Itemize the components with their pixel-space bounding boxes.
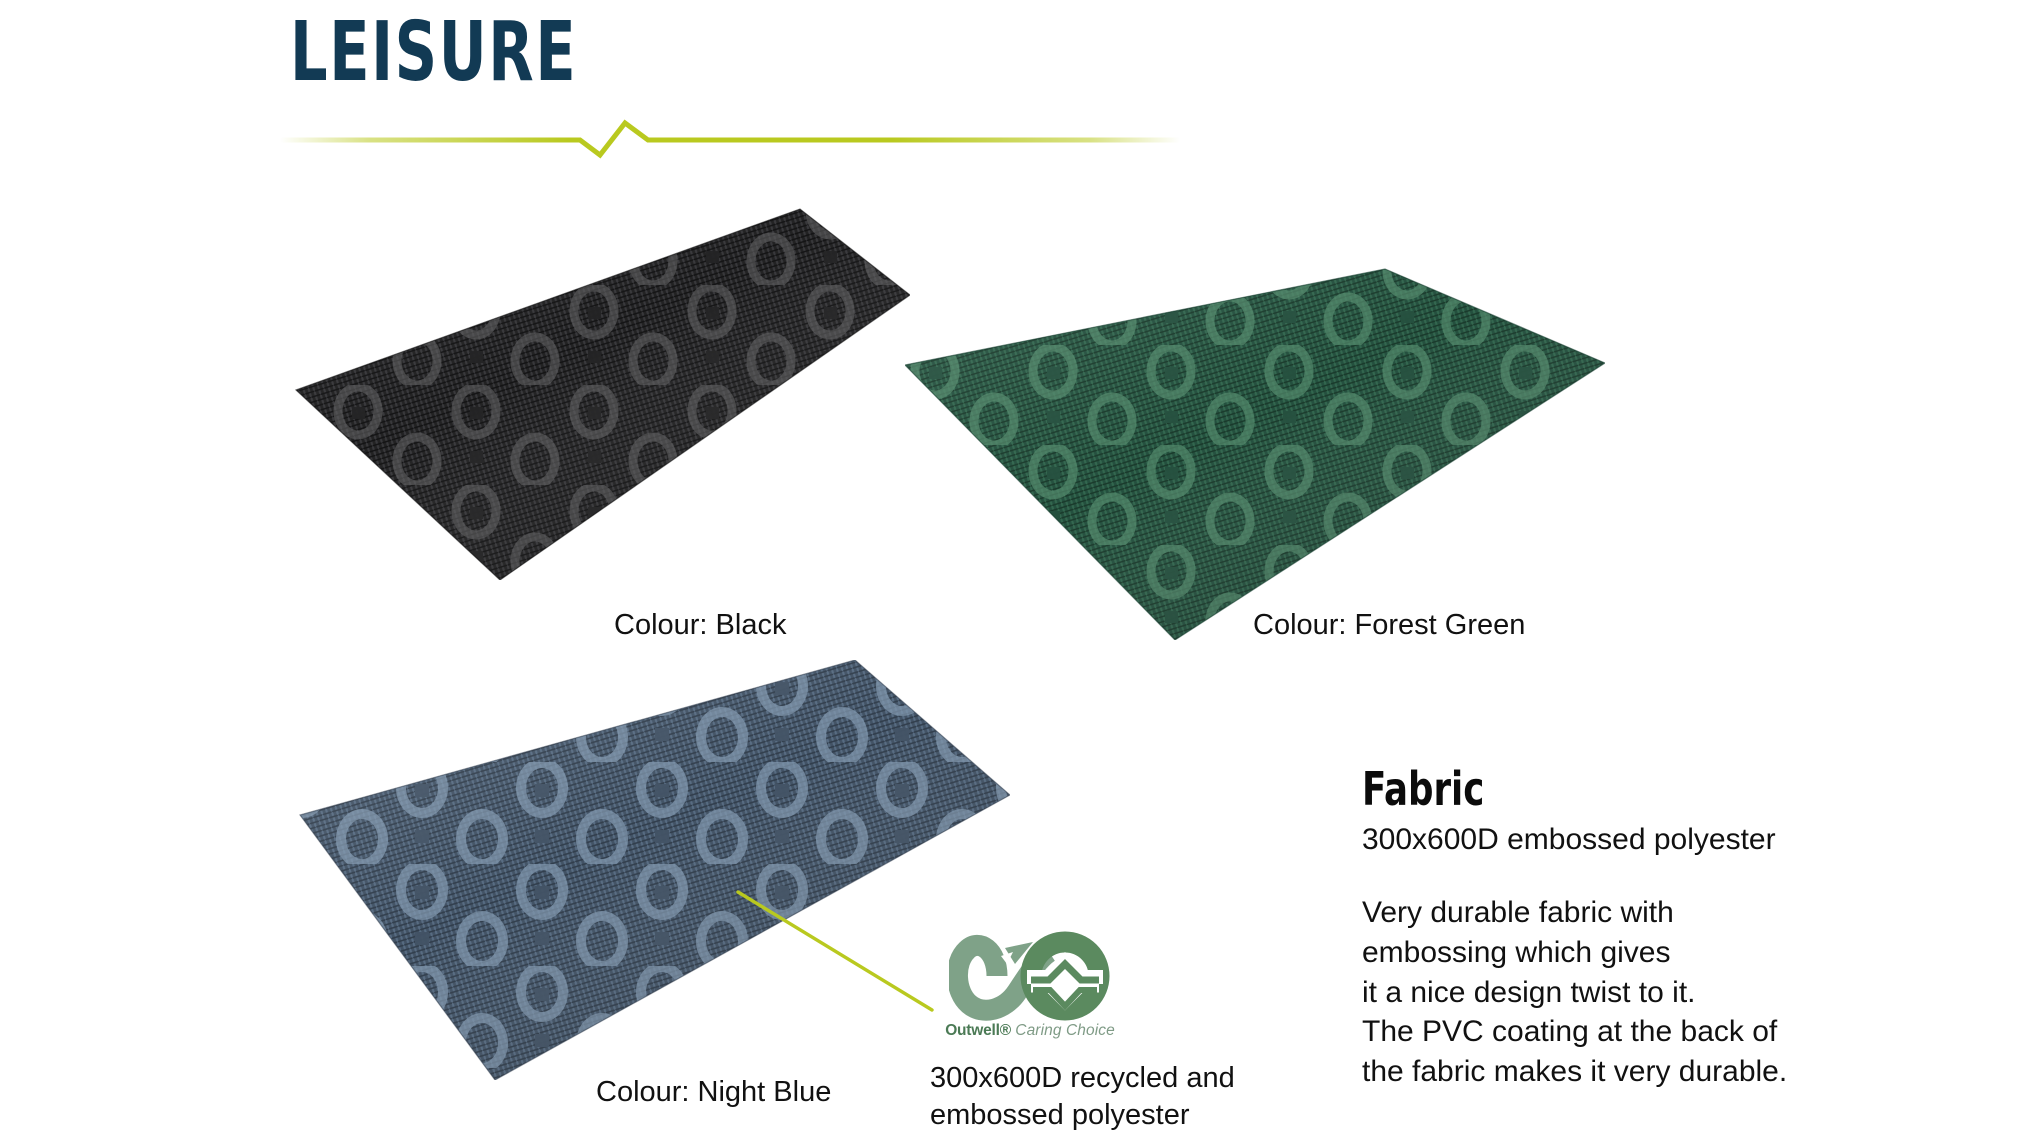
fabric-heading: Fabric	[1362, 765, 1844, 813]
colour-label-forest-green: Colour: Forest Green	[1253, 609, 1525, 642]
caring-choice-tagline: Caring Choice	[1015, 1022, 1115, 1039]
fabric-mat-swatch-black	[210, 185, 910, 580]
mat-forest-green	[905, 245, 1605, 640]
caring-choice-badge: Outwell® Caring Choice	[940, 930, 1120, 1039]
fabric-subtitle: 300x600D embossed polyester	[1362, 821, 1922, 859]
mat-night-blue	[270, 660, 1010, 1080]
fabric-mat-swatch-night-blue	[270, 660, 1010, 1080]
infinity-recycle-icon	[949, 930, 1111, 1022]
recycled-fabric-caption: 300x600D recycled and embossed polyester	[930, 1060, 1290, 1134]
fabric-mat-swatch-forest-green	[905, 245, 1605, 640]
product-sheet-page: LEISURE	[0, 0, 2028, 1140]
fabric-description: Very durable fabric with embossing which…	[1362, 893, 1922, 1092]
page-title: LEISURE	[290, 12, 577, 94]
colour-label-black: Colour: Black	[614, 609, 786, 642]
colour-label-night-blue: Colour: Night Blue	[596, 1076, 831, 1109]
caring-choice-wordmark: Outwell® Caring Choice	[940, 1023, 1120, 1039]
outwell-brand-text: Outwell®	[945, 1022, 1011, 1039]
fabric-info-block: Fabric 300x600D embossed polyester Very …	[1362, 765, 1922, 1092]
mat-black	[210, 185, 910, 580]
zigzag-divider	[280, 118, 1180, 164]
